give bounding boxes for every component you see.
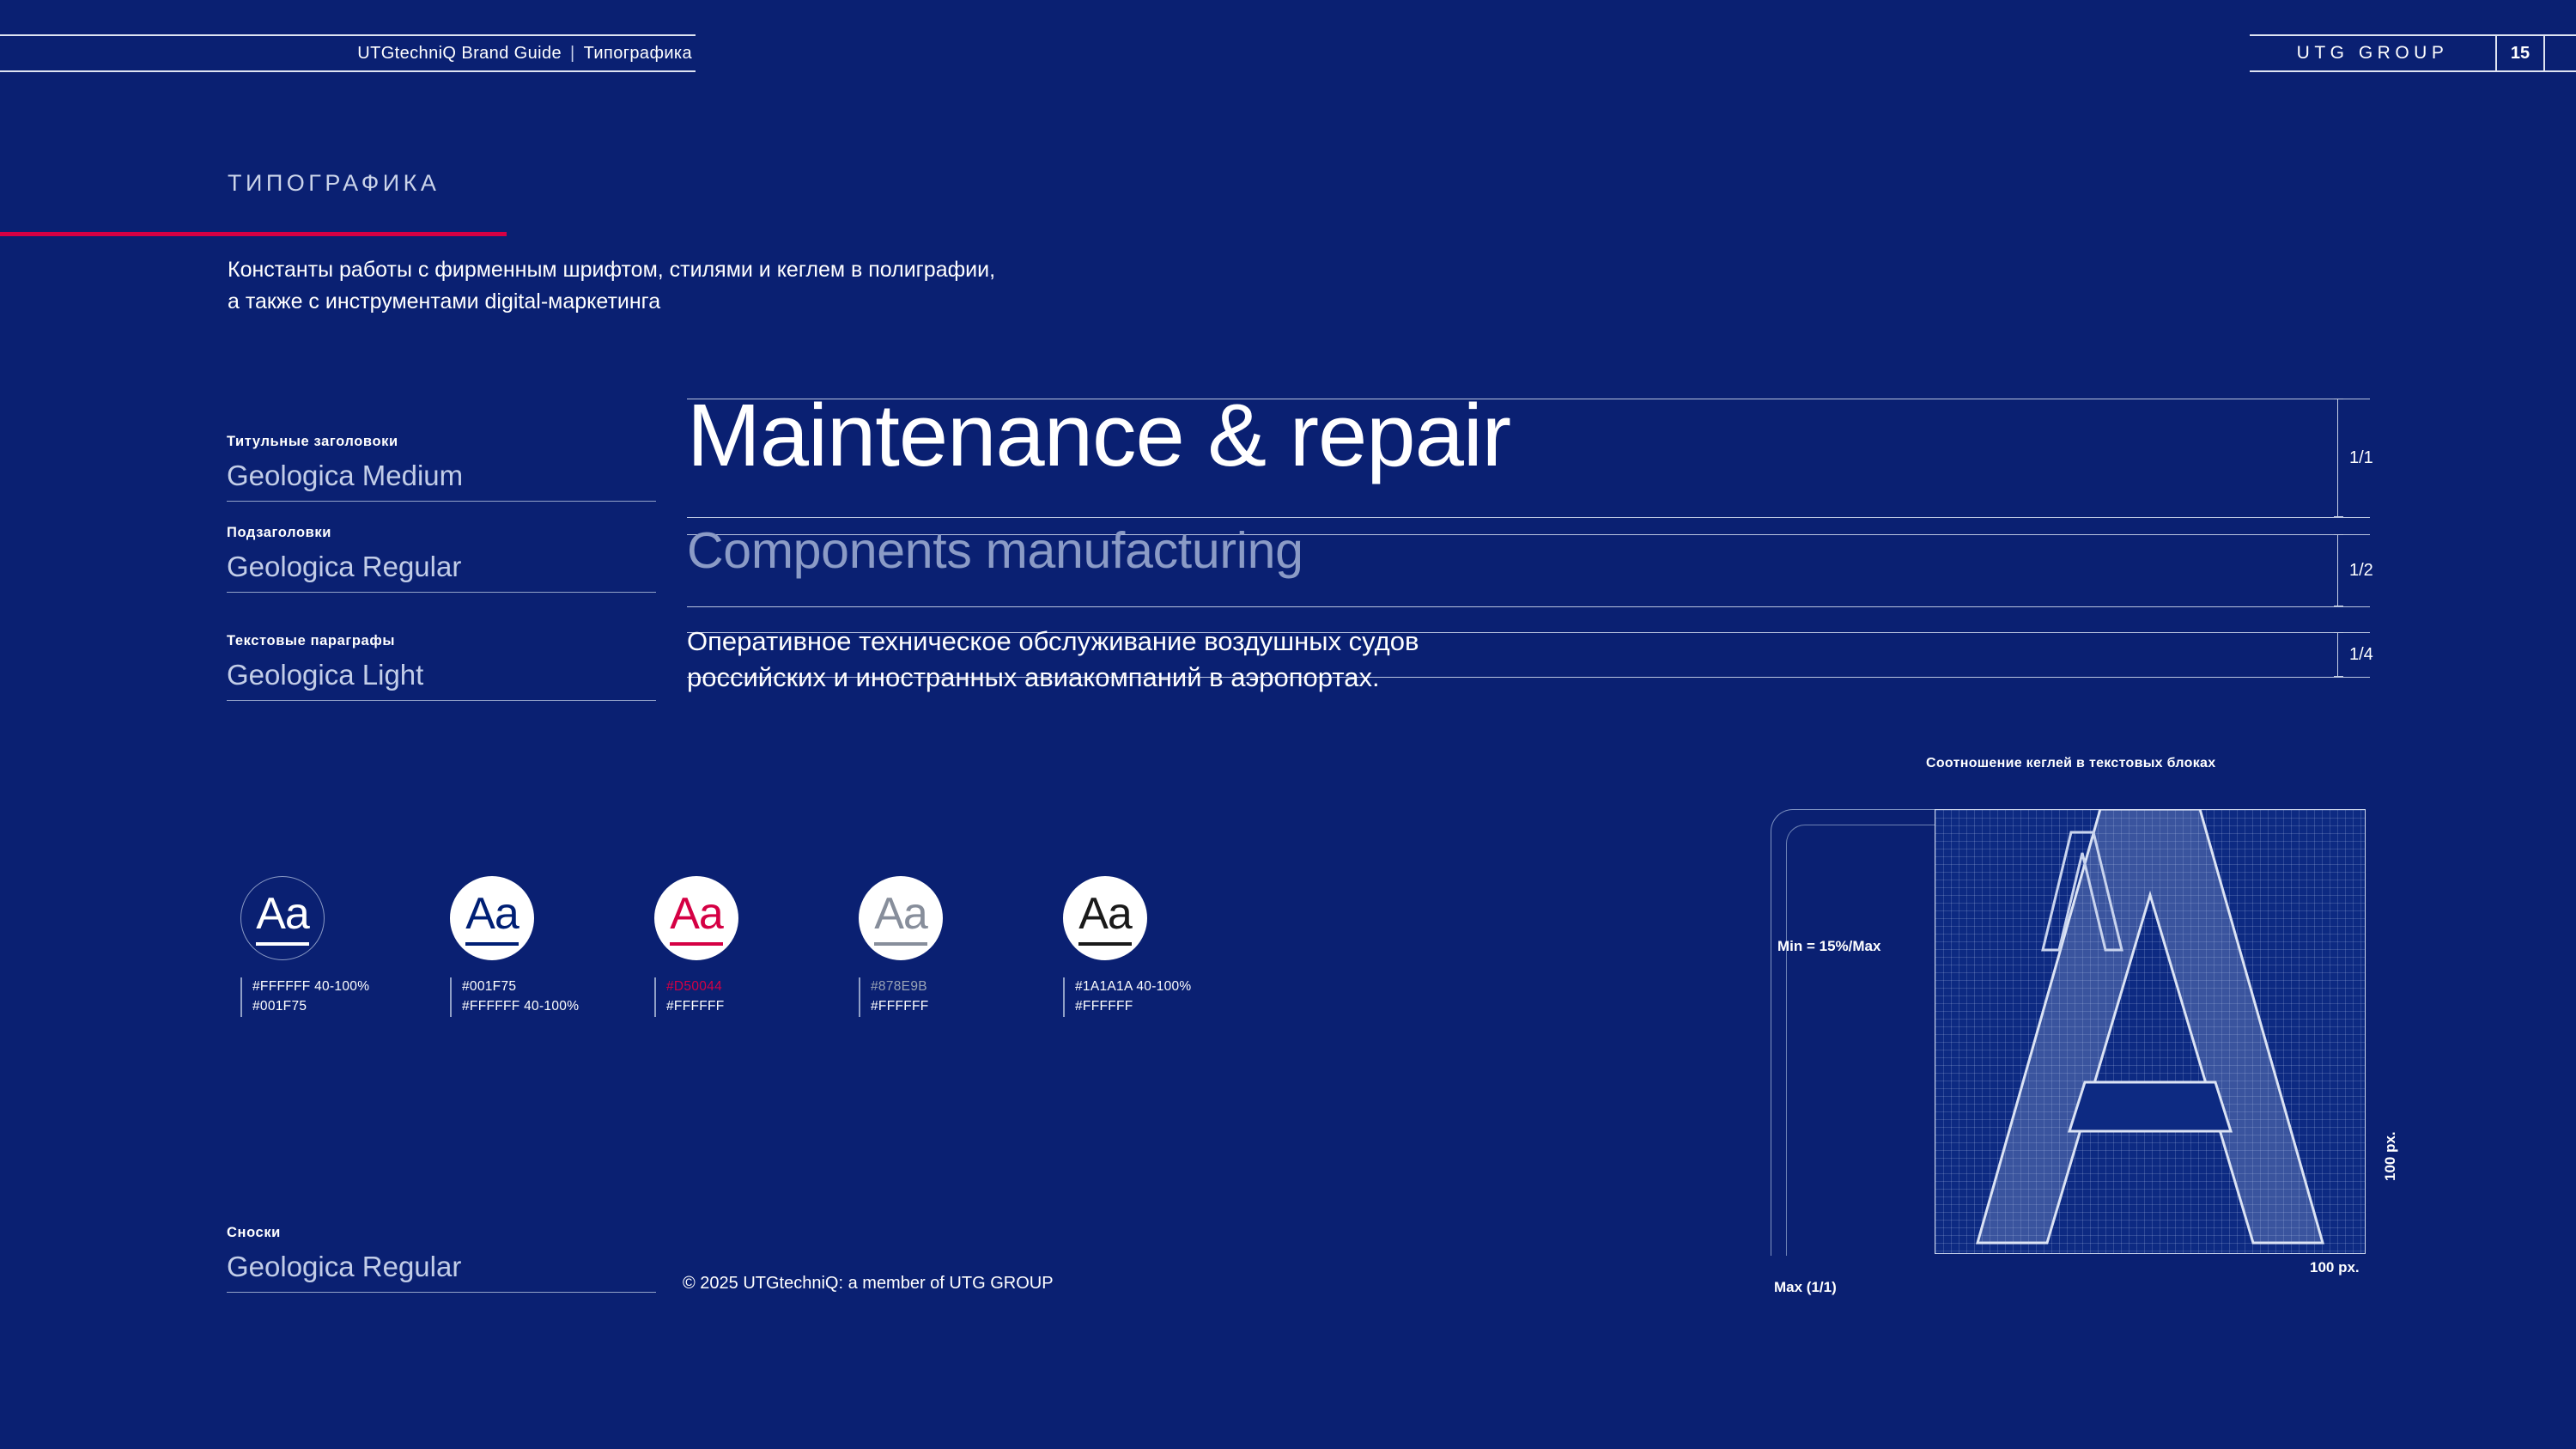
- swatch-code-primary: #FFFFFF 40-100%: [252, 977, 369, 997]
- sample-subheading: Components manufacturing: [687, 526, 1303, 576]
- swatch-codes: #878E9B #FFFFFF: [859, 977, 943, 1017]
- breadcrumb-text: UTGtechniQ Brand Guide|Типографика: [357, 44, 696, 64]
- letter-a-large-outline: [1935, 809, 2366, 1254]
- ratio-marker-1-4: 1/4: [2337, 632, 2373, 677]
- sample-body-line-2: российских и иностранных авиакомпаний в …: [687, 660, 1812, 696]
- breadcrumb-separator: |: [562, 44, 584, 64]
- swatch-code-secondary: #001F75: [252, 997, 369, 1017]
- spec-label: Подзаголовки: [227, 525, 656, 541]
- swatch-sample-text: Aa: [256, 892, 309, 946]
- swatch-code-secondary: #FFFFFF: [666, 997, 738, 1017]
- ratio-marker-1-1: 1/1: [2337, 399, 2373, 517]
- swatch-disc: Aa: [450, 876, 534, 960]
- color-swatch-blue-on-white[interactable]: Aa #001F75 #FFFFFF 40-100%: [450, 876, 579, 1017]
- spec-family: Geologica Light: [227, 659, 656, 701]
- swatch-sample-text: Aa: [670, 892, 723, 946]
- swatch-code-primary: #1A1A1A 40-100%: [1075, 977, 1192, 997]
- page-title: ТИПОГРАФИКА: [228, 170, 440, 197]
- spec-family: Geologica Regular: [227, 1251, 656, 1293]
- brand-guide-page: UTGtechniQ Brand Guide|Типографика UTG G…: [0, 0, 2576, 1449]
- spec-label: Титульные заголовоки: [227, 434, 656, 450]
- sample-rule-display-bottom: [687, 517, 2370, 518]
- ratio-bar: [2337, 399, 2338, 517]
- swatch-disc: Aa: [654, 876, 738, 960]
- intro-paragraph: Константы работы с фирменным шрифтом, ст…: [228, 254, 1430, 318]
- ratio-marker-1-2: 1/2: [2337, 534, 2373, 606]
- swatch-code-primary: #878E9B: [871, 977, 943, 997]
- ratio-label: 1/2: [2349, 561, 2373, 581]
- diagram-max-label: Max (1/1): [1774, 1279, 1837, 1296]
- swatch-code-secondary: #FFFFFF: [871, 997, 943, 1017]
- spec-label: Сноски: [227, 1225, 656, 1241]
- spec-family: Geologica Medium: [227, 460, 656, 502]
- spec-item-headings: Титульные заголовоки Geologica Medium: [227, 434, 656, 502]
- ratio-label: 1/1: [2349, 448, 2373, 468]
- swatch-codes: #D50044 #FFFFFF: [654, 977, 738, 1017]
- letter-a-small-outline: [2035, 829, 2129, 953]
- swatch-code-primary: #D50044: [666, 977, 738, 997]
- intro-line-2: а также с инструментами digital-маркетин…: [228, 286, 1430, 318]
- swatch-codes: #001F75 #FFFFFF 40-100%: [450, 977, 579, 1017]
- diagram-title: Соотношение кеглей в текстовых блоках: [1926, 756, 2215, 771]
- copyright-notice: © 2025 UTGtechniQ: a member of UTG GROUP: [683, 1274, 1054, 1294]
- swatch-code-secondary: #FFFFFF 40-100%: [462, 997, 579, 1017]
- spec-item-subheadings: Подзаголовки Geologica Regular: [227, 525, 656, 593]
- swatch-sample-text: Aa: [874, 892, 927, 946]
- ratio-bar: [2337, 632, 2338, 677]
- utg-group-logo: UTG GROUP: [2250, 36, 2495, 70]
- swatch-sample-text: Aa: [1078, 892, 1132, 946]
- header-breadcrumb: UTGtechniQ Brand Guide|Типографика: [0, 34, 696, 72]
- swatch-code-primary: #001F75: [462, 977, 579, 997]
- spec-family: Geologica Regular: [227, 551, 656, 593]
- color-swatch-black-on-white[interactable]: Aa #1A1A1A 40-100% #FFFFFF: [1063, 876, 1192, 1017]
- page-number: 15: [2495, 36, 2545, 70]
- color-swatch-white-on-blue[interactable]: Aa #FFFFFF 40-100% #001F75: [240, 876, 369, 1017]
- spec-label: Текстовые параграфы: [227, 633, 656, 649]
- diagram-min-label: Min = 15%/Max: [1777, 938, 1880, 955]
- swatch-codes: #FFFFFF 40-100% #001F75: [240, 977, 369, 1017]
- spec-item-paragraphs: Текстовые параграфы Geologica Light: [227, 633, 656, 701]
- sample-display-heading: Maintenance & repair: [687, 391, 1510, 479]
- swatch-code-secondary: #FFFFFF: [1075, 997, 1192, 1017]
- swatch-disc: Aa: [859, 876, 943, 960]
- diagram-width-label: 100 px.: [2310, 1259, 2360, 1276]
- swatch-disc: Aa: [1063, 876, 1147, 960]
- swatch-sample-text: Aa: [465, 892, 519, 946]
- sample-body-text: Оперативное техническое обслуживание воз…: [687, 624, 1812, 696]
- breadcrumb-section: Типографика: [584, 44, 692, 63]
- ratio-label: 1/4: [2349, 645, 2373, 665]
- sample-body-line-1: Оперативное техническое обслуживание воз…: [687, 624, 1812, 660]
- swatch-codes: #1A1A1A 40-100% #FFFFFF: [1063, 977, 1192, 1017]
- intro-line-1: Константы работы с фирменным шрифтом, ст…: [228, 254, 1430, 286]
- color-swatch-crimson-on-white[interactable]: Aa #D50044 #FFFFFF: [654, 876, 738, 1017]
- swatch-disc: Aa: [240, 876, 325, 960]
- breadcrumb-brand: UTGtechniQ Brand Guide: [357, 44, 562, 63]
- sample-rule-subhead-bottom: [687, 606, 2370, 607]
- header-tail-box: [2545, 36, 2576, 70]
- diagram-height-label: 100 px.: [2382, 1131, 2399, 1181]
- spec-item-footnotes: Сноски Geologica Regular: [227, 1225, 656, 1293]
- color-swatch-gray-on-white[interactable]: Aa #878E9B #FFFFFF: [859, 876, 943, 1017]
- ratio-bar: [2337, 534, 2338, 606]
- accent-rule: [0, 232, 507, 236]
- header-group-block: UTG GROUP 15: [2250, 34, 2576, 72]
